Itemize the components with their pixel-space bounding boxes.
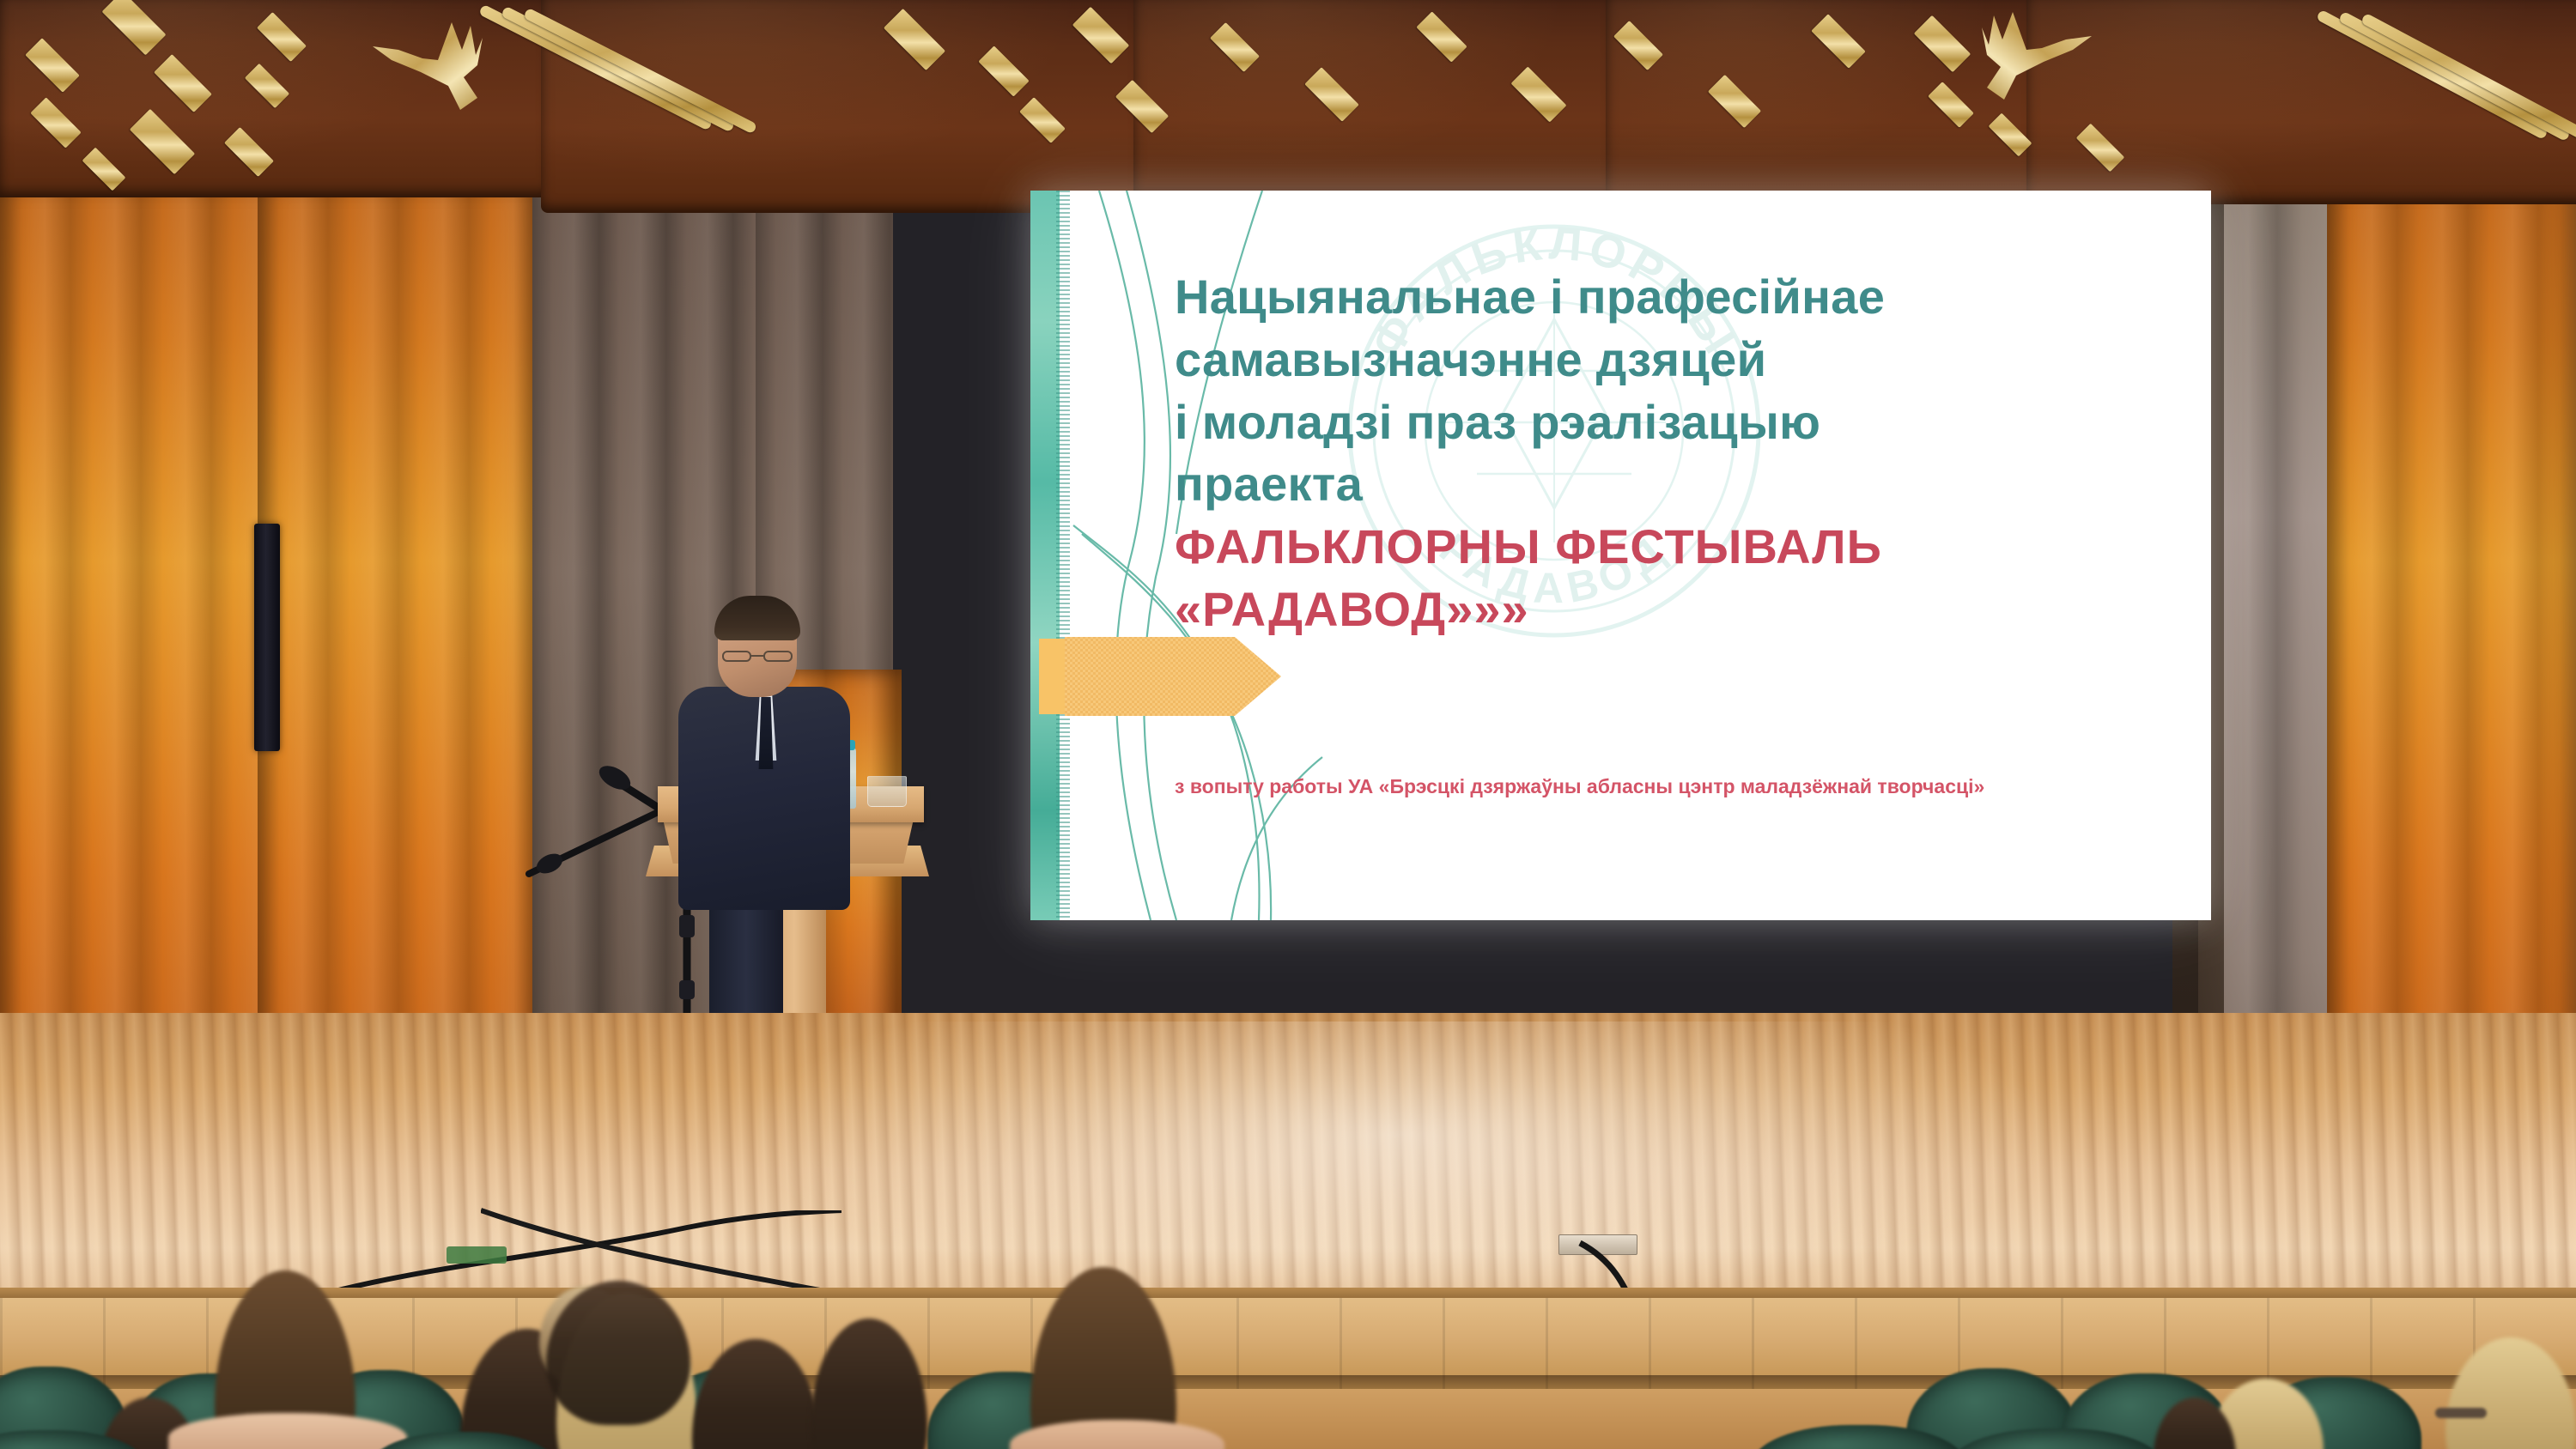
projection-screen: ФАЛЬКЛОРНЫ РАДАВОД [1030,191,2211,920]
slide-highlight-line: «РАДАВОД»»» [1175,579,2136,641]
valance-panel-center-left [541,0,1142,213]
slide-title-line: самавызначэнне дзяцей [1175,329,2136,391]
gold-bird-icon [1966,5,2095,108]
slide-title: Нацыянальнае і прафесійнае самавызначэнн… [1175,266,2136,641]
slide-subtitle: з вопыту работы УА «Брэсцкі дзяржаўны аб… [1175,773,2111,801]
slide-title-line: праекта [1175,453,2136,516]
slide-highlight-line: ФАЛЬКЛОРНЫ ФЕСТЫВАЛЬ [1175,516,2136,579]
glasses-icon [2435,1408,2487,1418]
glasses-icon [721,649,793,663]
slide-arrow-accent [1039,634,1297,719]
slide-title-line: і моладзі праз рэалізацыю [1175,391,2136,454]
gold-bird-icon [369,15,498,118]
slide-title-line: Нацыянальнае і прафесійнае [1175,266,2136,329]
line-array-speaker [254,524,280,751]
floor-tape-marker [447,1246,507,1264]
drinking-glass [867,776,907,807]
auditorium-scene: ФАЛЬКЛОРНЫ РАДАВОД [0,0,2576,1449]
